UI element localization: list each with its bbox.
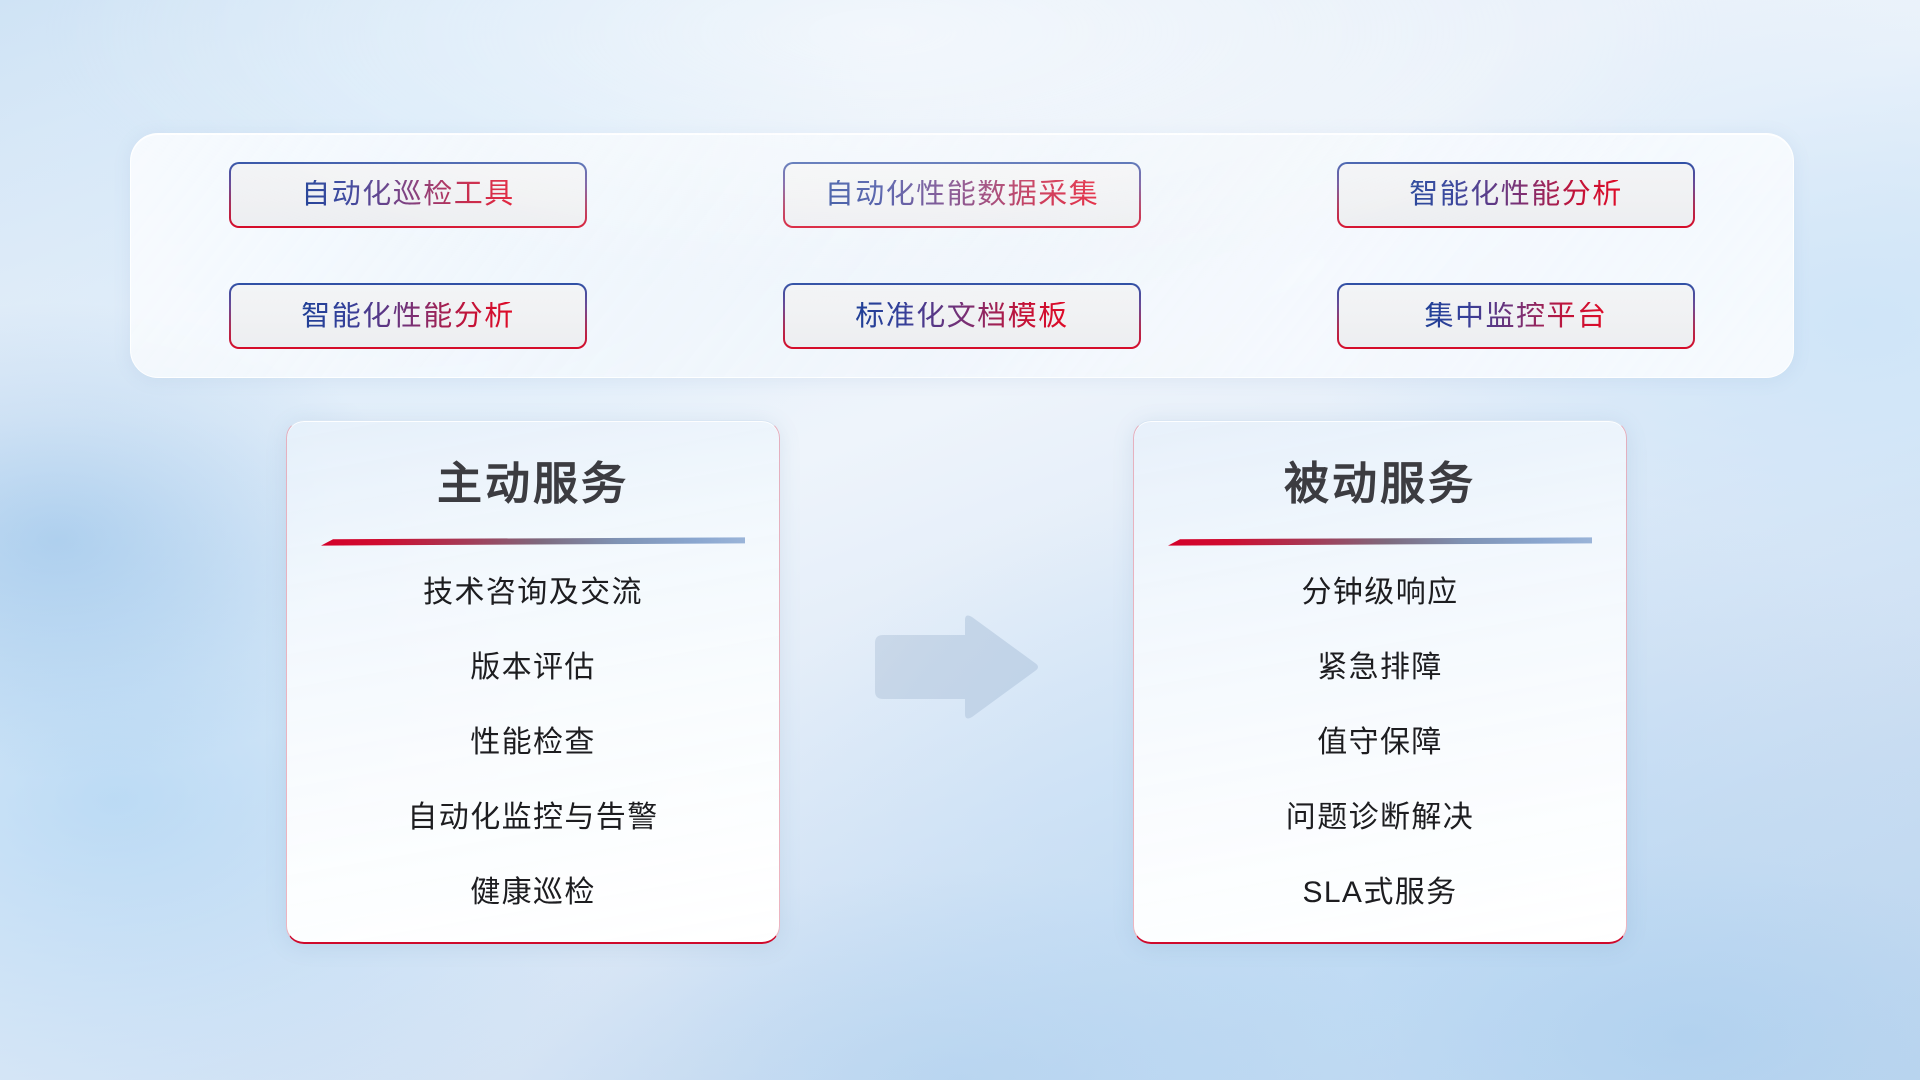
list-item: 性能检查: [287, 728, 779, 758]
reactive-service-card: 被动服务 分钟级响应 紧急排障: [1133, 420, 1627, 944]
capability-pill-1-label: 自动化巡检工具: [301, 180, 515, 209]
capability-pill-3-inner: 智能化性能分析: [1339, 164, 1693, 226]
capability-pill-3-label: 智能化性能分析: [1409, 180, 1623, 209]
arrow-right-icon: [869, 613, 1039, 721]
capability-pill-2[interactable]: 自动化性能数据采集: [783, 162, 1141, 228]
list-item: 值守保障: [1134, 728, 1626, 758]
slide-canvas: 自动化巡检工具 自动化性能数据采集 智能化性能分析 智能化性能分析: [0, 0, 1920, 1080]
capability-pill-grid: 自动化巡检工具 自动化性能数据采集 智能化性能分析 智能化性能分析: [131, 134, 1793, 377]
proactive-service-list: 技术咨询及交流 版本评估 性能检查 自动化监控与告警 健康巡检: [287, 578, 779, 908]
list-item: 紧急排障: [1134, 653, 1626, 683]
capability-pill-5-inner: 标准化文档模板: [785, 285, 1139, 347]
capability-pill-6[interactable]: 集中监控平台: [1337, 283, 1695, 349]
capability-pill-6-inner: 集中监控平台: [1339, 285, 1693, 347]
capability-pill-4-label: 智能化性能分析: [301, 302, 515, 331]
capability-pill-2-inner: 自动化性能数据采集: [785, 164, 1139, 226]
capability-pill-5[interactable]: 标准化文档模板: [783, 283, 1141, 349]
list-item: SLA式服务: [1134, 878, 1626, 908]
capability-pill-2-label: 自动化性能数据采集: [825, 180, 1100, 209]
capability-pill-5-label: 标准化文档模板: [855, 302, 1069, 331]
capability-pill-6-label: 集中监控平台: [1424, 302, 1607, 331]
reactive-service-title: 被动服务: [1134, 457, 1626, 511]
capability-pill-4[interactable]: 智能化性能分析: [229, 283, 587, 349]
capability-pill-1[interactable]: 自动化巡检工具: [229, 162, 587, 228]
list-item: 问题诊断解决: [1134, 803, 1626, 833]
capability-pill-3[interactable]: 智能化性能分析: [1337, 162, 1695, 228]
list-item: 分钟级响应: [1134, 578, 1626, 608]
list-item: 自动化监控与告警: [287, 803, 779, 833]
reactive-service-list: 分钟级响应 紧急排障 值守保障 问题诊断解决 SLA式服务: [1134, 578, 1626, 908]
capability-pill-4-inner: 智能化性能分析: [231, 285, 585, 347]
proactive-service-title: 主动服务: [287, 457, 779, 511]
list-item: 版本评估: [287, 653, 779, 683]
list-item: 健康巡检: [287, 878, 779, 908]
proactive-service-divider: [321, 533, 745, 542]
capability-panel: 自动化巡检工具 自动化性能数据采集 智能化性能分析 智能化性能分析: [130, 133, 1794, 378]
capability-pill-1-inner: 自动化巡检工具: [231, 164, 585, 226]
list-item: 技术咨询及交流: [287, 578, 779, 608]
reactive-service-divider: [1168, 533, 1592, 542]
proactive-service-card: 主动服务 技术咨询及交流 版本评估: [286, 420, 780, 944]
